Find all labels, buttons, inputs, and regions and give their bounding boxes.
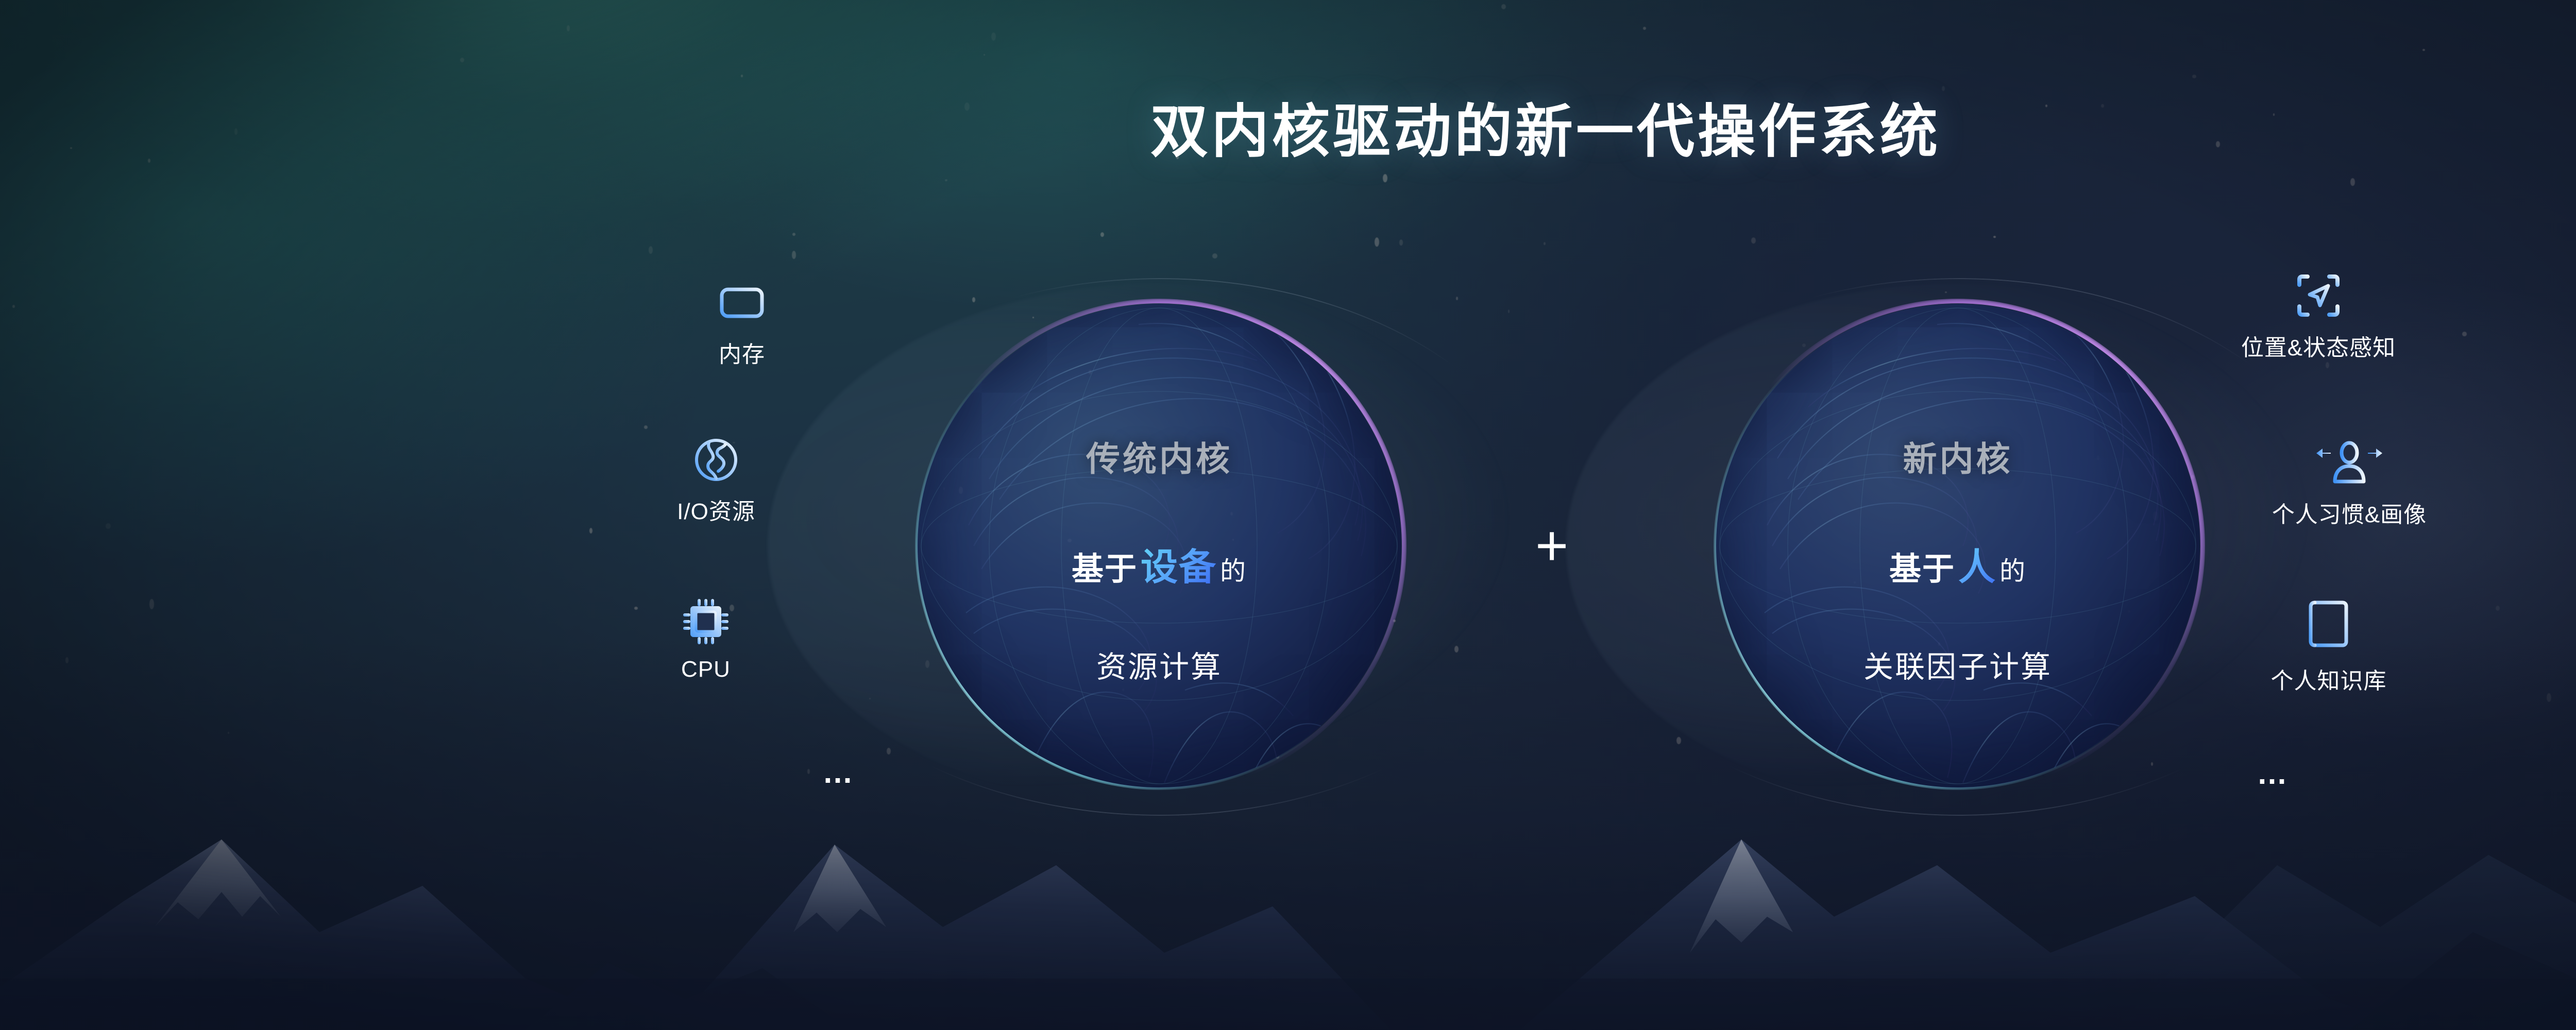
- feature-label: CPU: [639, 657, 773, 682]
- basis-highlight: 人: [1955, 547, 1999, 588]
- basis-prefix: 基于: [1889, 552, 1955, 587]
- page-title: 双内核驱动的新一代操作系统: [0, 85, 2576, 168]
- right-ellipsis-marker: …: [2257, 758, 2291, 789]
- feature-label: I/O资源: [608, 493, 824, 526]
- feature-personal-habits[interactable]: 个人习惯&画像: [2205, 440, 2494, 529]
- feature-cpu[interactable]: CPU: [639, 595, 773, 682]
- feature-io-resource[interactable]: I/O资源: [608, 435, 824, 526]
- kernel-name-label: 新内核: [1716, 432, 2200, 481]
- kernel-basis-line: 基于人的: [1716, 537, 2200, 591]
- memory-chip-icon: [714, 278, 770, 328]
- kernel-name-label: 传统内核: [917, 432, 1401, 481]
- kernel-sphere-new: 新内核 基于人的 关联因子计算: [1716, 304, 2200, 788]
- feature-label: 个人习惯&画像: [2205, 496, 2494, 529]
- user-profile-arrows-icon: [2315, 440, 2383, 488]
- globe-io-icon: [691, 435, 741, 485]
- feature-label: 内存: [675, 336, 809, 369]
- kernel-sphere-traditional: 传统内核 基于设备的 资源计算: [917, 304, 1401, 788]
- basis-suffix: 的: [1999, 557, 2026, 586]
- plus-operator: +: [1535, 518, 1568, 574]
- basis-prefix: 基于: [1072, 552, 1138, 587]
- basis-suffix: 的: [1220, 557, 1247, 586]
- kernel-compute-label: 关联因子计算: [1716, 643, 2200, 686]
- book-knowledge-icon: [2306, 597, 2352, 654]
- cpu-chip-icon: [679, 595, 733, 648]
- feature-personal-knowledge[interactable]: 个人知识库: [2221, 597, 2437, 695]
- left-ellipsis-marker: …: [822, 757, 856, 788]
- kernel-basis-line: 基于设备的: [917, 537, 1401, 591]
- feature-location-status[interactable]: 位置&状态感知: [2174, 270, 2463, 362]
- feature-label: 个人知识库: [2221, 662, 2437, 695]
- location-scan-icon: [2293, 270, 2344, 321]
- feature-label: 位置&状态感知: [2174, 329, 2463, 362]
- hero-banner: 双内核驱动的新一代操作系统: [0, 0, 2576, 1030]
- kernel-compute-label: 资源计算: [917, 643, 1401, 686]
- basis-highlight: 设备: [1138, 547, 1220, 588]
- feature-memory[interactable]: 内存: [675, 278, 809, 369]
